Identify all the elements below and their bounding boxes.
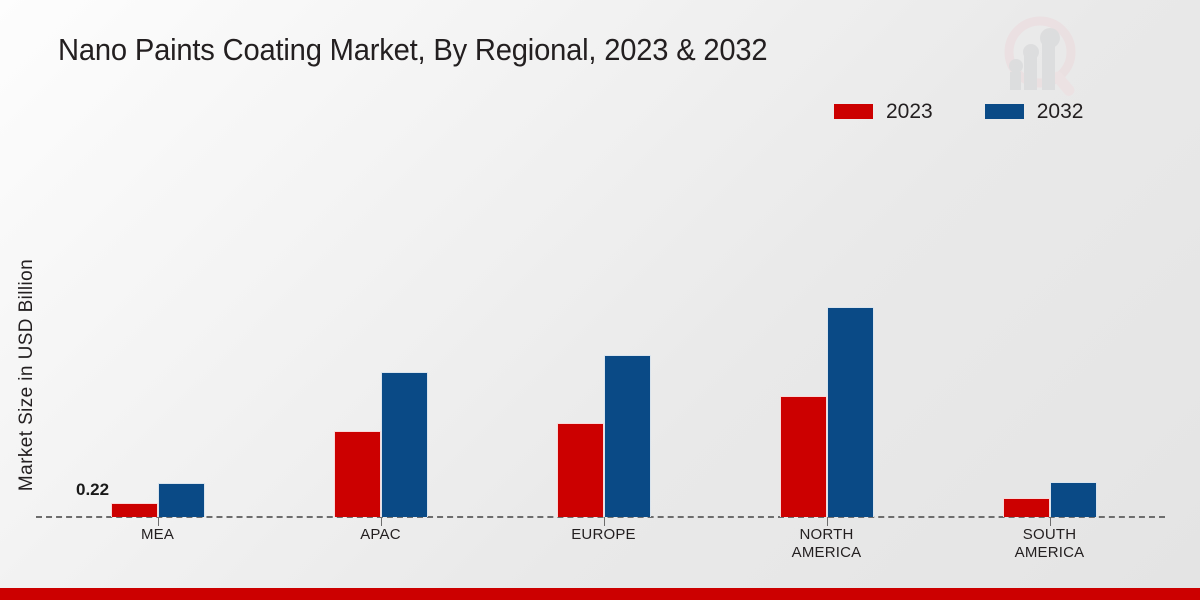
x-axis-label: EUROPE — [519, 526, 689, 544]
bar-group: 0.22 — [110, 217, 205, 517]
bar-2032[interactable] — [604, 355, 651, 517]
bar-2032[interactable] — [827, 307, 874, 517]
bar-group — [556, 217, 651, 517]
x-axis-label: APAC — [296, 526, 466, 544]
x-axis-label: SOUTHAMERICA — [965, 526, 1135, 562]
chart-container: Nano Paints Coating Market, By Regional,… — [0, 0, 1200, 600]
bar-group — [779, 217, 874, 517]
bar-2023[interactable] — [111, 503, 158, 517]
x-axis-label: NORTHAMERICA — [742, 526, 912, 562]
bar-value-label: 0.22 — [76, 480, 109, 500]
x-axis-tick — [827, 517, 828, 526]
bar-2023[interactable] — [1003, 498, 1050, 517]
x-axis-tick — [158, 517, 159, 526]
bar-2023[interactable] — [780, 396, 827, 517]
bar-2032[interactable] — [381, 372, 428, 517]
bar-2032[interactable] — [1050, 482, 1097, 517]
x-axis-tick — [1050, 517, 1051, 526]
bar-2023[interactable] — [557, 423, 604, 517]
bar-2023[interactable] — [334, 431, 381, 517]
x-axis-label: MEA — [73, 526, 243, 544]
bottom-accent-strip — [0, 588, 1200, 600]
plot-area: 0.22 MEAAPACEUROPENORTHAMERICASOUTHAMERI… — [0, 0, 1200, 600]
bar-group — [333, 217, 428, 517]
x-axis-tick — [604, 517, 605, 526]
bar-2032[interactable] — [158, 483, 205, 517]
x-axis-tick — [381, 517, 382, 526]
bar-group — [1002, 217, 1097, 517]
